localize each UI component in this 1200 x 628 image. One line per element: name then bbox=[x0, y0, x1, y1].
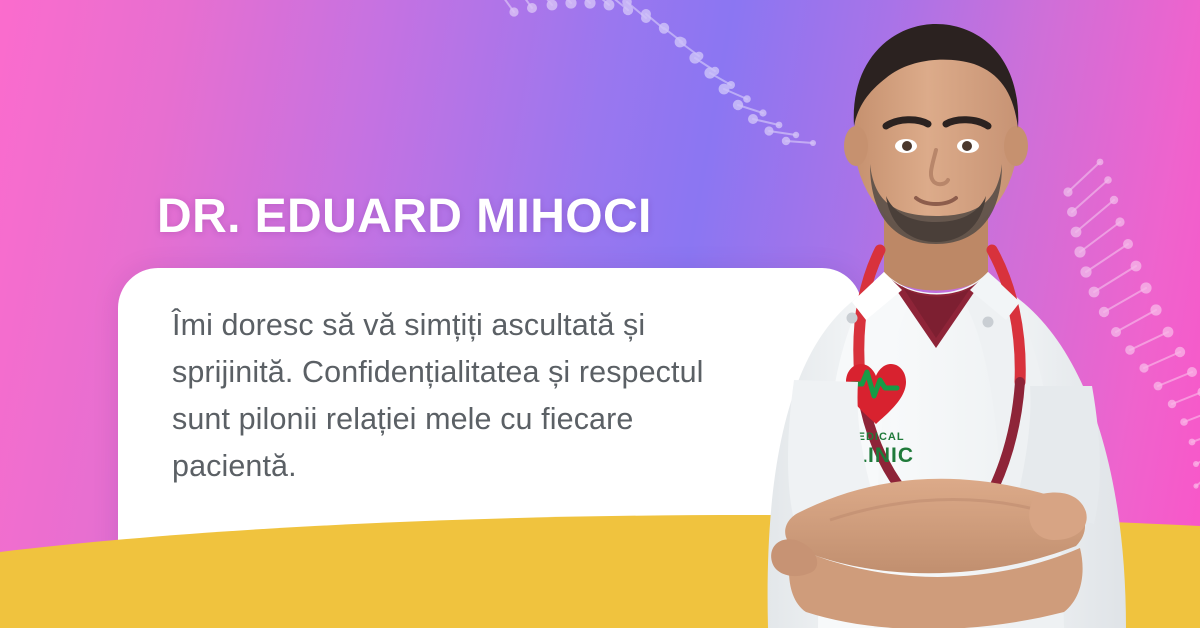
page-title: DR. EDUARD MIHOCI bbox=[157, 189, 652, 245]
doctor-profile-banner: DR. EDUARD MIHOCI Îmi doresc să vă simți… bbox=[0, 0, 1200, 628]
doctor-photo: MEDICAL KLINIC bbox=[734, 0, 1200, 628]
quote-text: Îmi doresc să vă simțiți ascultată și sp… bbox=[172, 302, 732, 490]
